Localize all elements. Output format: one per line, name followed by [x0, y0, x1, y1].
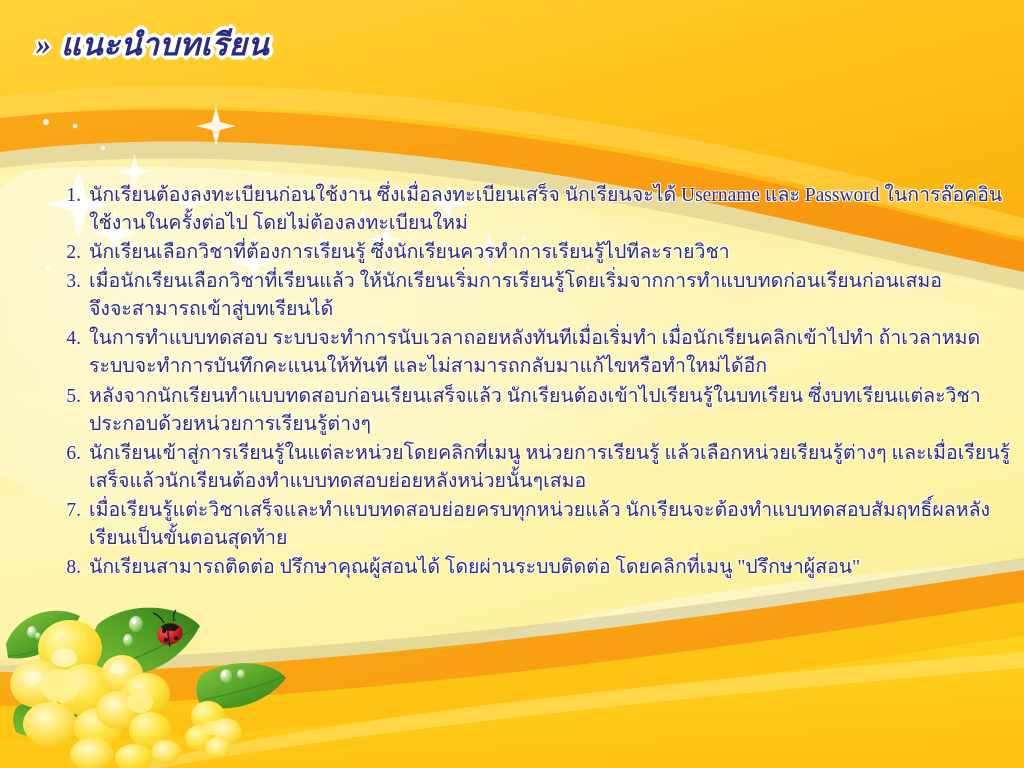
list-item-text: นักเรียนต้องลงทะเบียนก่อนใช้งาน ซึ่งเมื่… — [89, 182, 1002, 238]
flower-cluster-decoration — [0, 586, 304, 768]
list-item-number: 3. — [55, 268, 89, 296]
list-item-number: 1. — [55, 182, 89, 210]
text-line: เมื่อนักเรียนเลือกวิชาที่เรียนแล้ว ให้นั… — [89, 268, 965, 296]
list-item-text: เมื่อเรียนรู้แต่ะวิชาเสร็จและทำแบบทดสอบย… — [89, 497, 990, 553]
list-item-text: นักเรียนสามารถติดต่อ ปรึกษาคุณผู้สอนได้ … — [89, 554, 965, 582]
flower — [185, 701, 242, 759]
text-line: เสร็จแล้วนักเรียนต้องทำแบบทดสอบย่อยหลังห… — [89, 468, 1010, 496]
slide-title-block: » แนะนำบทเรียน — [36, 28, 269, 62]
double-chevron-icon: » — [36, 30, 49, 60]
list-item: 5. หลังจากนักเรียนทำแบบทดสอบก่อนเรียนเสร… — [55, 383, 965, 439]
list-item: 3. เมื่อนักเรียนเลือกวิชาที่เรียนแล้ว ให… — [55, 268, 965, 324]
text-line: นักเรียนสามารถติดต่อ ปรึกษาคุณผู้สอนได้ … — [89, 554, 965, 582]
text-line: หลังจากนักเรียนทำแบบทดสอบก่อนเรียนเสร็จแ… — [89, 383, 981, 411]
list-item: 2. นักเรียนเลือกวิชาที่ต้องการเรียนรู้ ซ… — [55, 239, 965, 267]
list-item: 6. นักเรียนเข้าสู่การเรียนรู้ในแต่ละหน่ว… — [55, 440, 965, 496]
list-item-text: นักเรียนเลือกวิชาที่ต้องการเรียนรู้ ซึ่ง… — [89, 239, 965, 267]
list-item: 8. นักเรียนสามารถติดต่อ ปรึกษาคุณผู้สอนไ… — [55, 554, 965, 582]
presentation-slide: » แนะนำบทเรียน 1. นักเรียนต้องลงทะเบียนก… — [0, 0, 1024, 768]
list-item-text: นักเรียนเข้าสู่การเรียนรู้ในแต่ละหน่วยโด… — [89, 440, 1010, 496]
list-item-number: 5. — [55, 383, 89, 411]
list-item-text: เมื่อนักเรียนเลือกวิชาที่เรียนแล้ว ให้นั… — [89, 268, 965, 324]
list-item-text: ในการทำแบบทดสอบ ระบบจะทำการนับเวลาถอยหลั… — [89, 325, 980, 381]
text-line: ใช้งานในครั้งต่อไป โดยไม่ต้องลงทะเบียนให… — [89, 210, 1002, 238]
text-line: นักเรียนเข้าสู่การเรียนรู้ในแต่ละหน่วยโด… — [89, 440, 1010, 468]
text-line: นักเรียนต้องลงทะเบียนก่อนใช้งาน ซึ่งเมื่… — [89, 182, 1002, 210]
list-item-number: 7. — [55, 497, 89, 525]
page-title: แนะนำบทเรียน — [61, 28, 269, 62]
text-line: ในการทำแบบทดสอบ ระบบจะทำการนับเวลาถอยหลั… — [89, 325, 980, 353]
instruction-list: 1. นักเรียนต้องลงทะเบียนก่อนใช้งาน ซึ่งเ… — [55, 182, 965, 582]
text-line: ระบบจะทำการบันทึกคะแนนให้ทันที และไม่สาม… — [89, 353, 980, 381]
text-line: เรียนเป็นขั้นตอนสุดท้าย — [89, 525, 990, 553]
text-line: จึงจะสามารถเข้าสู่บทเรียนได้ — [89, 296, 965, 324]
text-line: นักเรียนเลือกวิชาที่ต้องการเรียนรู้ ซึ่ง… — [89, 239, 965, 267]
text-line: ประกอบด้วยหน่วยการเรียนรู้ต่างๆ — [89, 411, 981, 439]
list-item-number: 6. — [55, 440, 89, 468]
flower — [70, 738, 181, 768]
instructions-panel: 1. นักเรียนต้องลงทะเบียนก่อนใช้งาน ซึ่งเ… — [55, 182, 965, 583]
list-item-number: 8. — [55, 554, 89, 582]
list-item: 7. เมื่อเรียนรู้แต่ะวิชาเสร็จและทำแบบทดส… — [55, 497, 965, 553]
list-item-number: 4. — [55, 325, 89, 353]
text-line: เมื่อเรียนรู้แต่ะวิชาเสร็จและทำแบบทดสอบย… — [89, 497, 990, 525]
list-item: 4. ในการทำแบบทดสอบ ระบบจะทำการนับเวลาถอย… — [55, 325, 965, 381]
list-item-text: หลังจากนักเรียนทำแบบทดสอบก่อนเรียนเสร็จแ… — [89, 383, 981, 439]
list-item-number: 2. — [55, 239, 89, 267]
list-item: 1. นักเรียนต้องลงทะเบียนก่อนใช้งาน ซึ่งเ… — [55, 182, 965, 238]
